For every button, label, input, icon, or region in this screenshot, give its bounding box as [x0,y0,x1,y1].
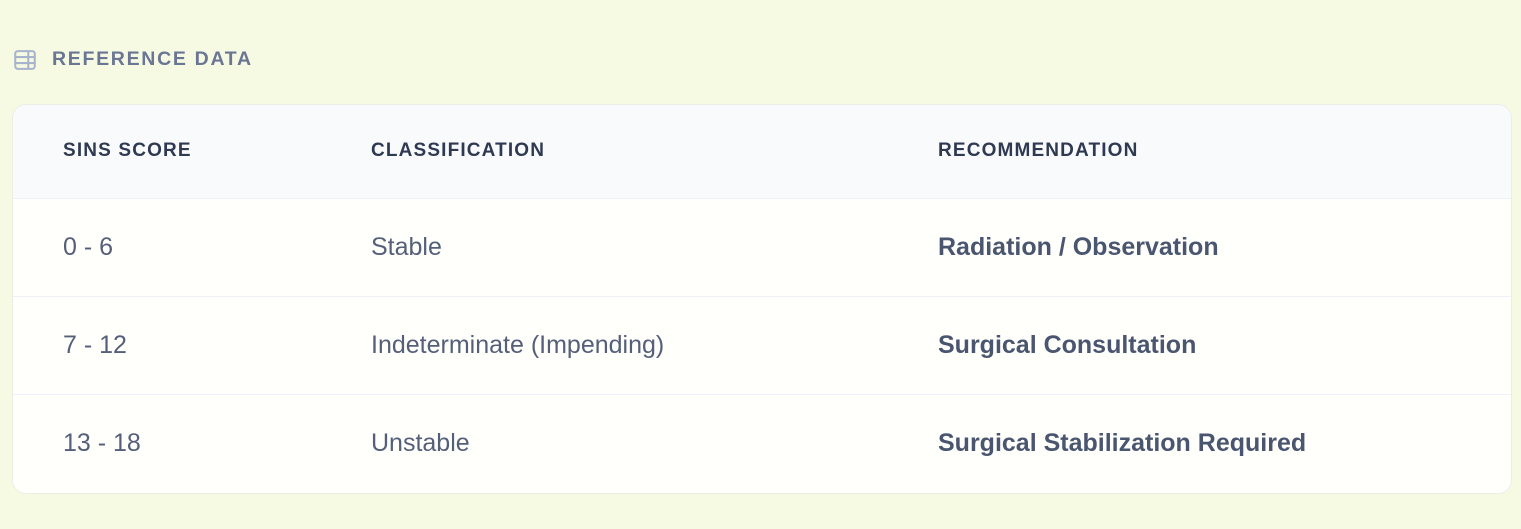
reference-data-page: REFERENCE DATA SINS SCORE CLASSIFICATION… [0,0,1521,529]
table-header-row: SINS SCORE CLASSIFICATION RECOMMENDATION [13,105,1511,198]
cell-sins-score: 0 - 6 [13,198,321,296]
section-header: REFERENCE DATA [12,42,253,78]
column-header-recommendation: RECOMMENDATION [888,105,1511,198]
table-body: 0 - 6 Stable Radiation / Observation 7 -… [13,198,1511,492]
cell-recommendation: Surgical Consultation [888,296,1511,394]
cell-classification: Stable [321,198,888,296]
reference-data-card: SINS SCORE CLASSIFICATION RECOMMENDATION… [12,104,1512,494]
table-row: 0 - 6 Stable Radiation / Observation [13,198,1511,296]
cell-recommendation: Surgical Stabilization Required [888,394,1511,492]
cell-recommendation: Radiation / Observation [888,198,1511,296]
section-title: REFERENCE DATA [52,50,253,70]
cell-classification: Indeterminate (Impending) [321,296,888,394]
table-row: 13 - 18 Unstable Surgical Stabilization … [13,394,1511,492]
table-header: SINS SCORE CLASSIFICATION RECOMMENDATION [13,105,1511,198]
table-row: 7 - 12 Indeterminate (Impending) Surgica… [13,296,1511,394]
column-header-sins-score: SINS SCORE [13,105,321,198]
reference-data-table: SINS SCORE CLASSIFICATION RECOMMENDATION… [13,105,1511,492]
cell-sins-score: 13 - 18 [13,394,321,492]
cell-classification: Unstable [321,394,888,492]
table-grid-icon [12,47,38,73]
cell-sins-score: 7 - 12 [13,296,321,394]
column-header-classification: CLASSIFICATION [321,105,888,198]
